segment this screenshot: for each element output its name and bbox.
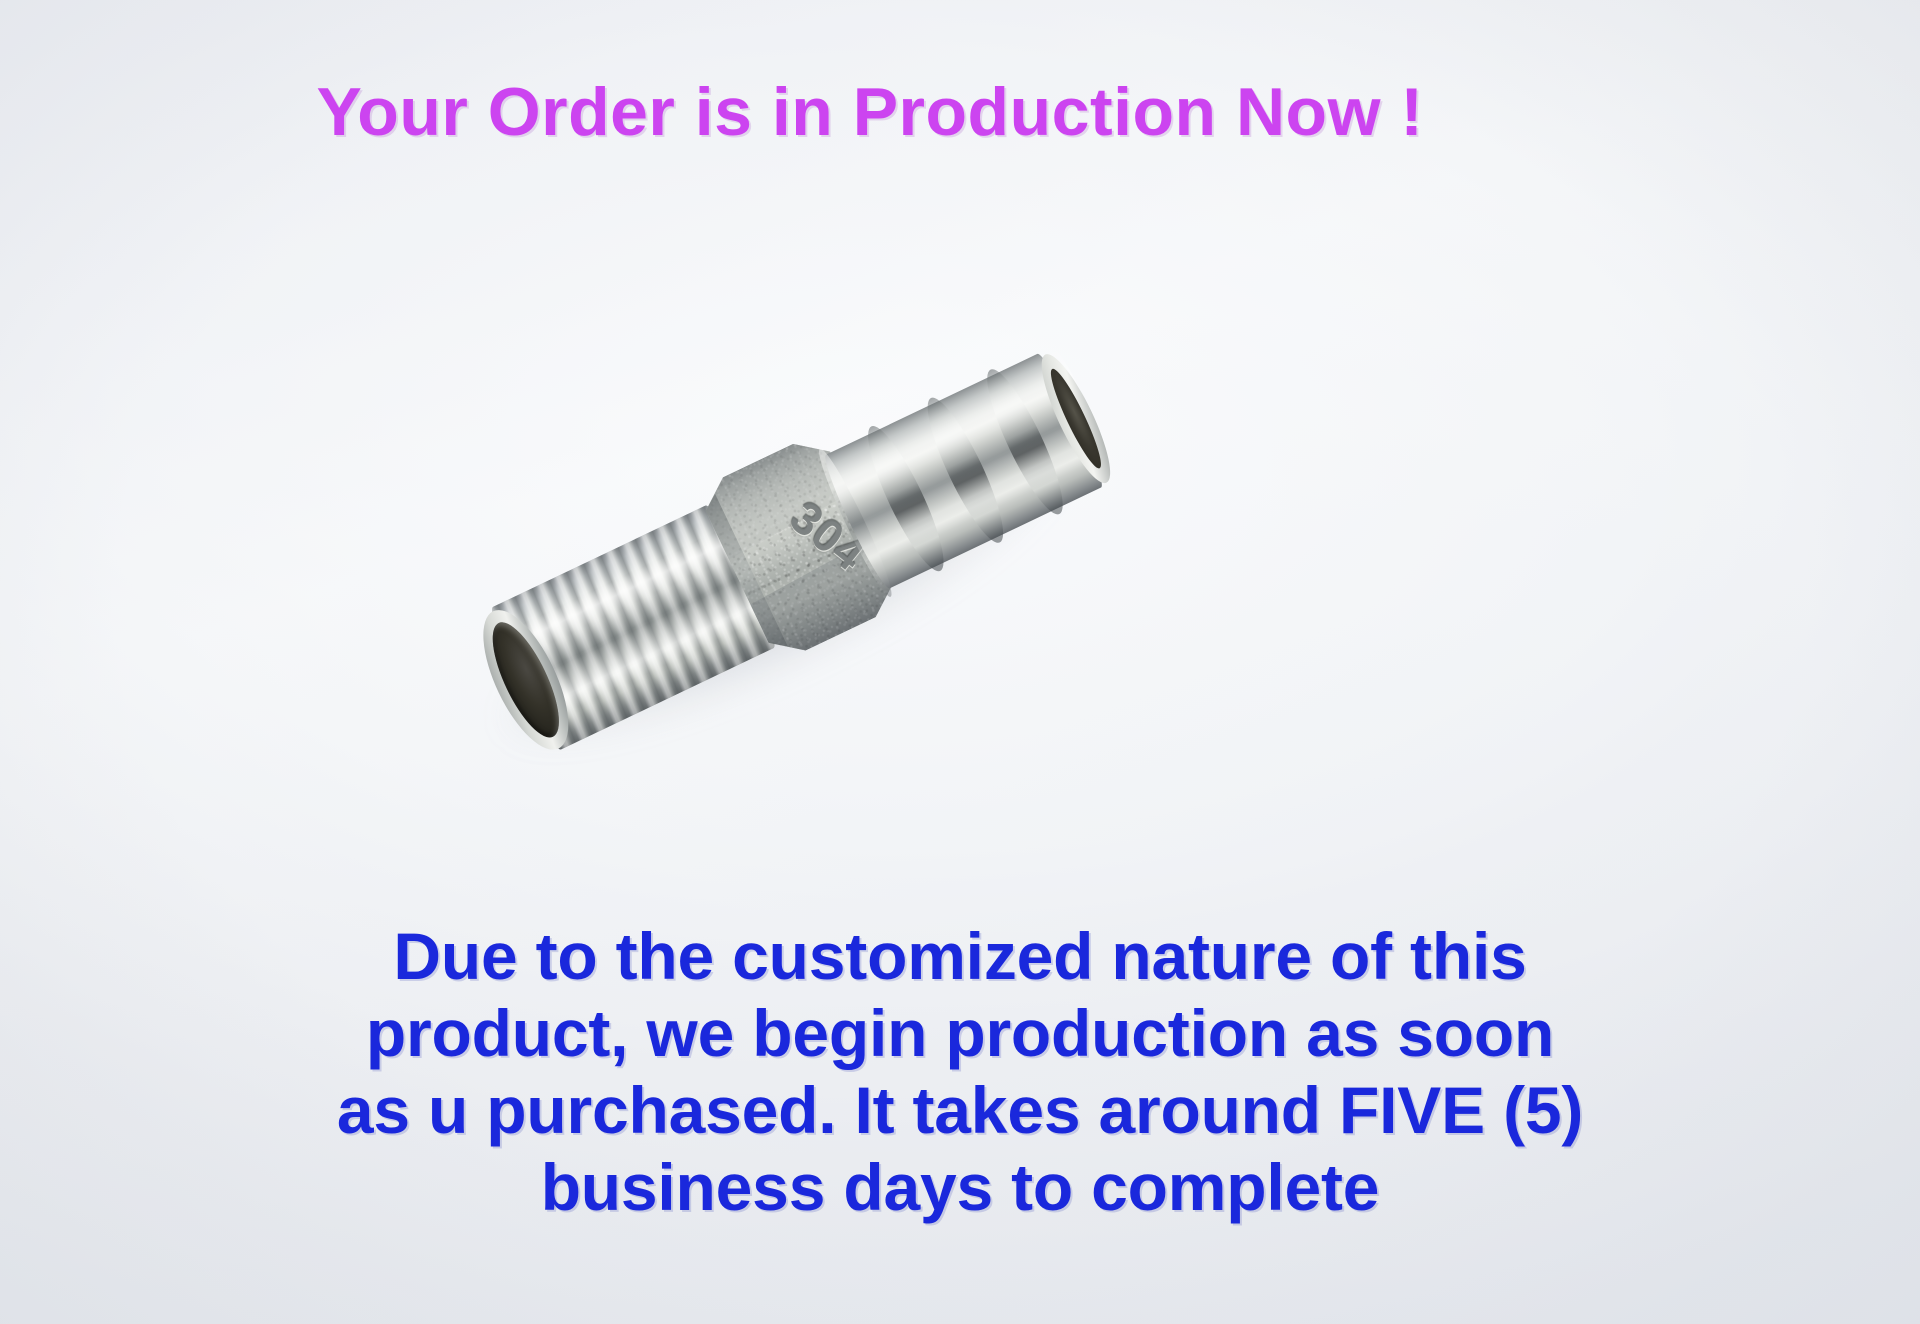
body-line-4: business days to complete	[0, 1149, 1920, 1226]
headline-text: Your Order is in Production Now !	[0, 78, 1920, 146]
body-line-1: Due to the customized nature of this	[0, 918, 1920, 995]
body-line-3: as u purchased. It takes around FIVE (5)	[0, 1072, 1920, 1149]
promo-banner: Your Order is in Production Now ! 304	[0, 0, 1920, 1324]
product-photo: 304	[455, 295, 1165, 725]
body-line-2: product, we begin production as soon	[0, 995, 1920, 1072]
body-copy: Due to the customized nature of this pro…	[0, 918, 1920, 1226]
